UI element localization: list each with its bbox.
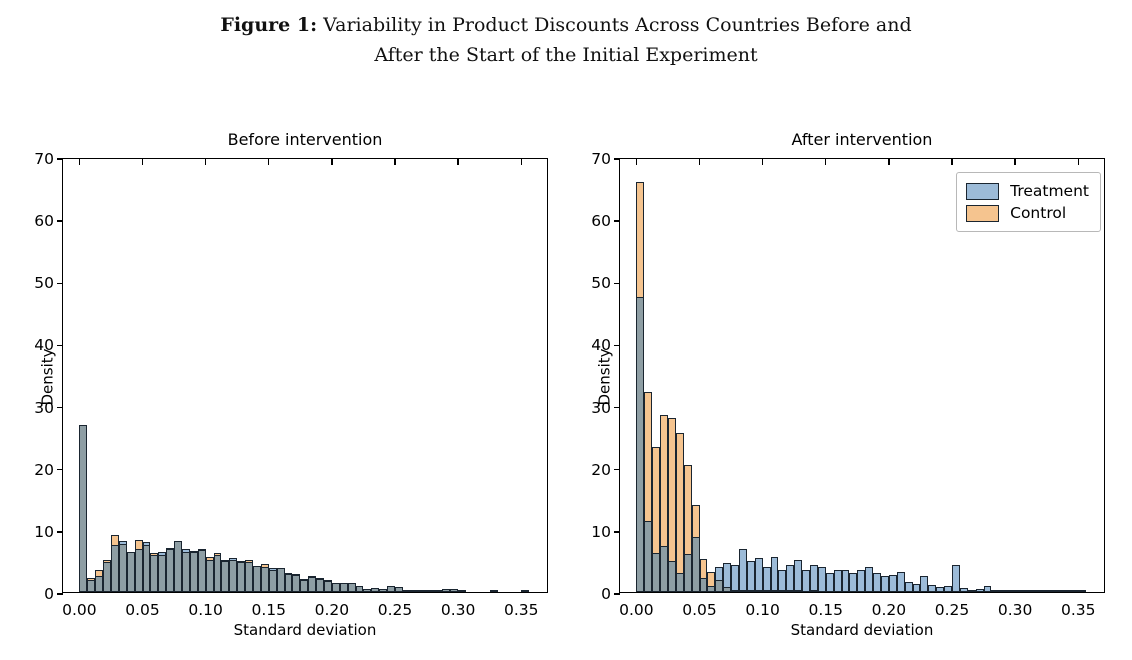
bar-treatment	[1039, 590, 1047, 592]
bar-overlap	[150, 555, 158, 592]
bar-overlap	[763, 590, 771, 592]
x-tick-label: 0.30	[441, 592, 476, 619]
bar-overlap	[356, 586, 364, 592]
bar-treatment	[865, 567, 873, 592]
y-tick-mark	[614, 283, 620, 284]
bar-treatment	[889, 575, 897, 592]
bar-treatment	[786, 565, 794, 592]
plot-area-left	[63, 159, 547, 592]
bar-overlap	[253, 566, 261, 592]
bar-overlap	[300, 580, 308, 592]
figure-caption: Figure 1: Variability in Product Discoun…	[0, 10, 1132, 70]
bar-treatment	[1062, 590, 1070, 592]
bar-treatment	[739, 549, 747, 593]
x-tick-mark	[457, 159, 458, 165]
chart-legend: Treatment Control	[956, 172, 1101, 232]
legend-swatch-control	[966, 205, 999, 222]
bar-treatment	[960, 588, 968, 592]
bar-overlap	[277, 568, 285, 592]
bar-overlap	[490, 590, 498, 592]
bar-overlap	[308, 577, 316, 592]
x-tick-label: 0.30	[998, 592, 1033, 619]
panel-right-xlabel: Standard deviation	[619, 621, 1105, 639]
panel-after-intervention: After intervention 0102030405060700.000.…	[619, 158, 1105, 593]
legend-label-control: Control	[1010, 204, 1066, 222]
bar-overlap	[119, 544, 127, 592]
figure-label: Figure 1:	[220, 14, 317, 36]
bar-overlap	[206, 560, 214, 592]
y-tick-mark	[614, 469, 620, 470]
bar-treatment	[905, 582, 913, 592]
bar-overlap	[332, 583, 340, 592]
x-tick-label: 0.10	[188, 592, 223, 619]
bar-overlap	[340, 583, 348, 592]
bar-overlap	[348, 583, 356, 592]
bar-treatment	[936, 587, 944, 592]
bar-overlap	[198, 550, 206, 592]
bar-overlap	[135, 549, 143, 593]
bar-overlap	[652, 553, 660, 592]
bar-treatment	[984, 586, 992, 592]
caption-line-2: After the Start of the Initial Experimen…	[0, 40, 1132, 70]
legend-swatch-treatment	[966, 183, 999, 200]
bar-treatment	[1015, 590, 1023, 592]
bar-treatment	[952, 565, 960, 592]
x-tick-mark	[1014, 159, 1015, 165]
x-tick-mark	[205, 159, 206, 165]
x-tick-mark	[951, 159, 952, 165]
bar-overlap	[403, 590, 411, 592]
bar-overlap	[668, 561, 676, 592]
bar-overlap	[79, 425, 87, 592]
bar-overlap	[676, 573, 684, 592]
bar-overlap	[794, 590, 802, 592]
bar-treatment	[1031, 590, 1039, 592]
bar-overlap	[778, 590, 786, 592]
bar-overlap	[723, 587, 731, 592]
x-tick-mark	[699, 159, 700, 165]
y-tick-mark	[57, 220, 63, 221]
bar-control	[676, 433, 684, 592]
bar-overlap	[739, 590, 747, 592]
bar-treatment	[928, 585, 936, 592]
x-tick-mark	[1078, 159, 1079, 165]
x-tick-label: 0.20	[315, 592, 350, 619]
x-tick-label: 0.00	[62, 592, 97, 619]
bar-treatment	[1070, 590, 1078, 592]
bar-overlap	[458, 590, 466, 592]
bar-overlap	[127, 552, 135, 592]
bar-overlap	[103, 562, 111, 592]
bar-overlap	[521, 590, 529, 592]
bar-treatment	[778, 570, 786, 592]
x-tick-label: 0.00	[619, 592, 654, 619]
bar-overlap	[700, 578, 708, 592]
bar-overlap	[316, 579, 324, 592]
x-tick-mark	[888, 159, 889, 165]
legend-item-treatment[interactable]: Treatment	[966, 180, 1089, 202]
bar-overlap	[166, 549, 174, 593]
legend-label-treatment: Treatment	[1010, 182, 1089, 200]
bar-overlap	[95, 576, 103, 592]
bar-overlap	[707, 586, 715, 592]
y-tick-mark	[57, 158, 63, 159]
bar-overlap	[158, 555, 166, 592]
x-tick-label: 0.25	[935, 592, 970, 619]
bar-overlap	[237, 562, 245, 592]
bar-overlap	[285, 574, 293, 592]
y-tick-mark	[614, 345, 620, 346]
y-tick-mark	[57, 345, 63, 346]
bar-overlap	[419, 590, 427, 592]
bar-overlap	[371, 588, 379, 592]
bar-overlap	[692, 537, 700, 592]
x-tick-label: 0.10	[745, 592, 780, 619]
bar-overlap	[269, 570, 277, 592]
bar-treatment	[1055, 590, 1063, 592]
bar-treatment	[810, 565, 818, 592]
bar-overlap	[442, 589, 450, 592]
bar-treatment	[881, 576, 889, 592]
legend-item-control[interactable]: Control	[966, 202, 1089, 224]
bar-treatment	[849, 573, 857, 592]
x-tick-mark	[762, 159, 763, 165]
bar-treatment	[999, 590, 1007, 592]
x-tick-label: 0.05	[682, 592, 717, 619]
bar-overlap	[87, 580, 95, 592]
x-tick-mark	[142, 159, 143, 165]
figure-root: Figure 1: Variability in Product Discoun…	[0, 0, 1132, 660]
y-tick-mark	[614, 158, 620, 159]
bar-treatment	[763, 567, 771, 592]
bar-treatment	[968, 590, 976, 592]
bar-overlap	[111, 545, 119, 592]
bar-overlap	[644, 521, 652, 592]
panel-left-ylabel: Density	[39, 160, 57, 595]
bar-overlap	[771, 590, 779, 592]
bar-treatment	[913, 584, 921, 592]
y-tick-mark	[57, 407, 63, 408]
bar-treatment	[976, 589, 984, 592]
bar-treatment	[818, 567, 826, 592]
y-tick-mark	[614, 531, 620, 532]
bar-overlap	[229, 560, 237, 592]
bar-overlap	[427, 590, 435, 592]
bar-treatment	[857, 570, 865, 592]
bar-overlap	[387, 586, 395, 592]
bar-overlap	[174, 541, 182, 592]
bar-treatment	[920, 576, 928, 592]
bar-treatment	[1023, 590, 1031, 592]
x-tick-label: 0.15	[251, 592, 286, 619]
bar-treatment	[1078, 590, 1086, 592]
x-tick-label: 0.25	[378, 592, 413, 619]
x-tick-mark	[331, 159, 332, 165]
bar-treatment	[755, 558, 763, 592]
bar-overlap	[755, 590, 763, 592]
x-tick-mark	[394, 159, 395, 165]
bar-overlap	[182, 552, 190, 592]
x-tick-label: 0.15	[808, 592, 843, 619]
y-tick-mark	[614, 220, 620, 221]
panel-left-xlabel: Standard deviation	[62, 621, 548, 639]
plot-axes-left: 0102030405060700.000.050.100.150.200.250…	[62, 158, 548, 593]
x-tick-mark	[636, 159, 637, 165]
bar-treatment	[991, 590, 999, 592]
caption-line-1: Variability in Product Discounts Across …	[323, 14, 911, 36]
bar-overlap	[684, 554, 692, 592]
bar-overlap	[411, 590, 419, 592]
bar-overlap	[261, 567, 269, 592]
y-tick-mark	[57, 469, 63, 470]
x-tick-mark	[825, 159, 826, 165]
bar-treatment	[1047, 590, 1055, 592]
bar-treatment	[794, 560, 802, 592]
bar-overlap	[715, 580, 723, 592]
bar-treatment	[842, 570, 850, 592]
bar-treatment	[897, 572, 905, 592]
bar-overlap	[221, 561, 229, 592]
x-tick-mark	[521, 159, 522, 165]
bar-overlap	[143, 545, 151, 592]
bar-overlap	[636, 297, 644, 592]
bar-overlap	[660, 546, 668, 592]
bar-treatment	[731, 565, 739, 592]
x-tick-mark	[268, 159, 269, 165]
bar-overlap	[292, 575, 300, 592]
bar-treatment	[873, 573, 881, 592]
bar-overlap	[245, 562, 253, 592]
bar-overlap	[450, 589, 458, 592]
panel-right-title: After intervention	[619, 130, 1105, 149]
bar-overlap	[747, 590, 755, 592]
bar-treatment	[944, 586, 952, 592]
bar-overlap	[190, 552, 198, 592]
x-tick-label: 0.35	[1061, 592, 1096, 619]
bar-treatment	[771, 557, 779, 592]
x-tick-mark	[79, 159, 80, 165]
bar-overlap	[324, 581, 332, 592]
bar-treatment	[747, 561, 755, 592]
x-tick-label: 0.20	[872, 592, 907, 619]
x-tick-label: 0.35	[504, 592, 539, 619]
bar-overlap	[434, 590, 442, 592]
bar-treatment	[834, 570, 842, 592]
y-tick-mark	[614, 407, 620, 408]
bar-overlap	[379, 589, 387, 592]
y-tick-mark	[57, 531, 63, 532]
bar-treatment	[802, 570, 810, 592]
x-tick-label: 0.05	[125, 592, 160, 619]
bar-overlap	[786, 590, 794, 592]
bar-overlap	[363, 589, 371, 592]
bar-overlap	[214, 555, 222, 592]
bar-overlap	[810, 590, 818, 592]
bar-overlap	[731, 590, 739, 592]
bar-treatment	[1007, 590, 1015, 592]
panel-right-ylabel: Density	[596, 160, 614, 595]
bar-overlap	[395, 587, 403, 592]
panel-left-title: Before intervention	[62, 130, 548, 149]
y-tick-mark	[57, 283, 63, 284]
bar-treatment	[826, 573, 834, 592]
panel-before-intervention: Before intervention 0102030405060700.000…	[62, 158, 548, 593]
